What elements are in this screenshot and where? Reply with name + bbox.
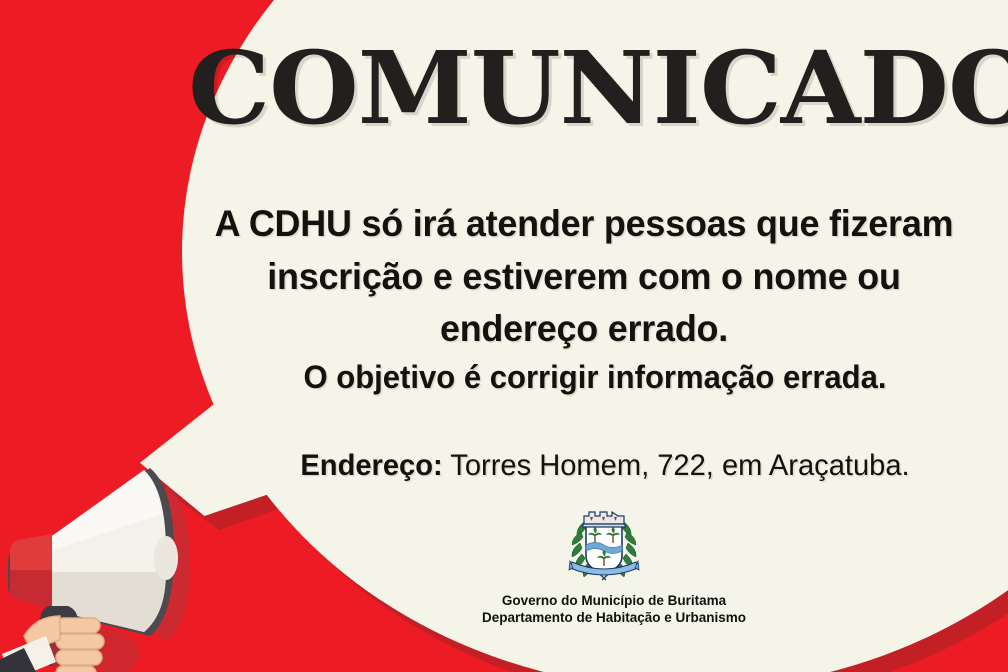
megaphone-icon bbox=[0, 440, 254, 672]
poster-canvas: COMUNICADO! A CDHU só irá atender pessoa… bbox=[0, 0, 1008, 672]
page-title: COMUNICADO! bbox=[188, 38, 1002, 138]
coat-of-arms-icon bbox=[562, 504, 646, 586]
address-line: Endereço: Torres Homem, 722, em Araçatub… bbox=[251, 448, 959, 484]
footer-line-government: Governo do Município de Buritama bbox=[354, 592, 874, 609]
address-value: Torres Homem, 722, em Araçatuba. bbox=[450, 449, 909, 482]
footer-attribution: Governo do Município de Buritama Departa… bbox=[354, 592, 874, 627]
footer-line-department: Departamento de Habitação e Urbanismo bbox=[354, 609, 874, 626]
announcement-paragraph-primary: A CDHU só irá atender pessoas que fizera… bbox=[190, 198, 978, 356]
announcement-paragraph-secondary: O objetivo é corrigir informação errada. bbox=[241, 358, 949, 396]
address-label: Endereço: bbox=[300, 449, 442, 482]
